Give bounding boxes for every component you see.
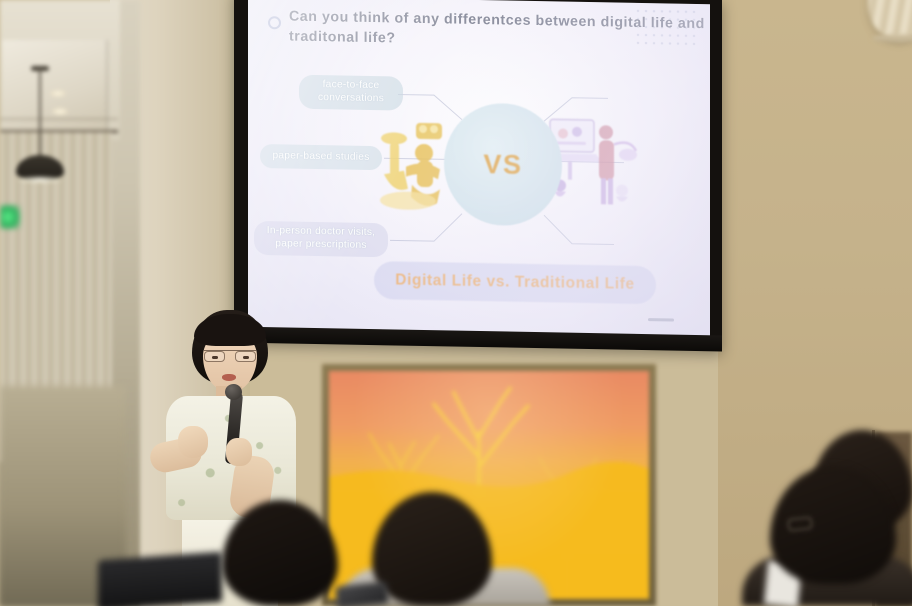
label-pill-face-to-face: face-to-face conversations: [299, 75, 403, 111]
smartphone[interactable]: [335, 581, 389, 606]
downlight-icon: [50, 90, 66, 97]
ceiling-seam: [0, 118, 118, 120]
pendant-lamp-glow: [18, 176, 62, 183]
slide-dash-icon: [648, 318, 674, 321]
presenter-glasses-icon: [204, 350, 256, 361]
slide-banner: Digital Life vs. Traditional Life: [374, 261, 656, 304]
presenter-eye: [243, 356, 249, 359]
laptop[interactable]: [98, 552, 222, 606]
label-pill-paper-based: paper-based studies: [260, 144, 382, 170]
label-pill-doctor-visits: In-person doctor visits, paper prescript…: [254, 221, 388, 257]
presenter-left-hand: [178, 426, 208, 458]
projector-screen[interactable]: Can you think of any differentces betwee…: [248, 0, 710, 342]
audience-glasses-icon: [787, 517, 812, 531]
vs-circle: VS: [444, 102, 562, 226]
slide-title: Can you think of any differentces betwee…: [289, 7, 709, 55]
presenter-eye: [212, 356, 218, 359]
presenter-right-hand: [226, 438, 252, 466]
glasses-lens-right: [235, 351, 256, 362]
vs-label: VS: [483, 149, 522, 181]
slide-banner-text: Digital Life vs. Traditional Life: [395, 271, 634, 293]
photo-scene: Can you think of any differentces betwee…: [0, 0, 912, 606]
downlight-icon: [52, 108, 68, 115]
circle-outline-icon: [268, 16, 281, 29]
glasses-lens-left: [204, 351, 225, 362]
pendant-lamp-cord: [39, 68, 41, 158]
presentation-slide: Can you think of any differentces betwee…: [248, 0, 710, 342]
presenter-mouth: [222, 374, 236, 381]
exit-sign: [0, 205, 20, 229]
